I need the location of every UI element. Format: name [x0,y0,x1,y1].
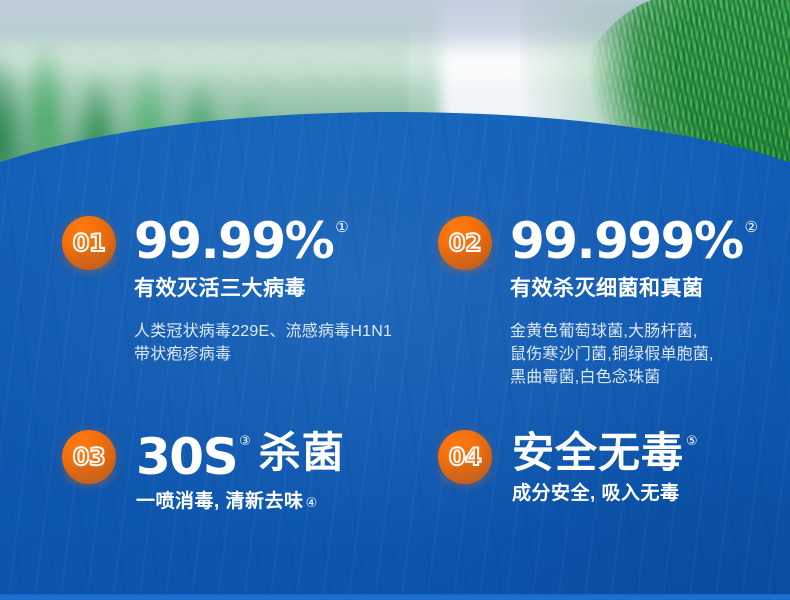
feature-text-02: 99.999% ② 有效杀灭细菌和真菌 金黄色葡萄球菌,大肠杆菌, 鼠伤寒沙门菌… [510,216,758,390]
badge-04: 04 [438,430,492,484]
footnote-marker: ④ [306,496,318,511]
headline-row-04: 安全无毒 ⑤ [512,432,698,474]
detail-line: 带状疱疹病毒 [134,343,392,366]
badge-number: 04 [449,445,481,469]
footnote-marker: ① [335,220,348,235]
subheadline: 成分安全, 吸入无毒 [512,478,698,505]
footnote-marker: ⑤ [686,435,698,448]
detail-line: 鼠伤寒沙门菌,铜绿假单胞菌, [510,343,758,366]
subheadline: 有效灭活三大病毒 [134,272,392,302]
footnote-marker: ③ [239,435,251,448]
headline-row-02: 99.999% ② [510,216,758,266]
headline-value: 安全无毒 [512,432,684,474]
headline-value: 99.999% [510,216,743,266]
subheadline: 一喷消毒, 清新去味 [136,491,304,512]
feature-text-01: 99.99% ① 有效灭活三大病毒 人类冠状病毒229E、流感病毒H1N1 带状… [134,216,392,366]
subheadline: 有效杀灭细菌和真菌 [510,272,758,302]
headline-value: 30S [136,432,237,482]
feature-text-04: 安全无毒 ⑤ 成分安全, 吸入无毒 [512,430,698,505]
headline-row-03: 30S ③ 杀菌 [136,432,345,482]
feature-item-02: 02 99.999% ② 有效杀灭细菌和真菌 金黄色葡萄球菌,大肠杆菌, 鼠伤寒… [438,216,758,390]
headline-value: 99.99% [134,216,333,266]
detail-line: 金黄色葡萄球菌,大肠杆菌, [510,320,758,343]
promo-poster: 01 99.99% ① 有效灭活三大病毒 人类冠状病毒229E、流感病毒H1N1… [0,0,790,600]
headline-row-01: 99.99% ① [134,216,392,266]
badge-01: 01 [62,216,116,270]
feature-item-04: 04 安全无毒 ⑤ 成分安全, 吸入无毒 [438,430,698,505]
detail-text-01: 人类冠状病毒229E、流感病毒H1N1 带状疱疹病毒 [134,320,392,366]
detail-line: 黑曲霉菌,白色念珠菌 [510,366,758,389]
feature-text-03: 30S ③ 杀菌 一喷消毒, 清新去味④ [136,430,345,513]
badge-number: 01 [73,231,105,255]
headline-tail: 杀菌 [259,432,345,474]
feature-item-01: 01 99.99% ① 有效灭活三大病毒 人类冠状病毒229E、流感病毒H1N1… [62,216,392,366]
detail-text-02: 金黄色葡萄球菌,大肠杆菌, 鼠伤寒沙门菌,铜绿假单胞菌, 黑曲霉菌,白色念珠菌 [510,320,758,390]
detail-line: 人类冠状病毒229E、流感病毒H1N1 [134,320,392,343]
badge-number: 03 [73,445,105,469]
footnote-marker: ② [745,220,758,235]
feature-grid: 01 99.99% ① 有效灭活三大病毒 人类冠状病毒229E、流感病毒H1N1… [0,0,790,600]
subheadline-row-03: 一喷消毒, 清新去味④ [136,486,345,513]
feature-item-03: 03 30S ③ 杀菌 一喷消毒, 清新去味④ [62,430,345,513]
badge-number: 02 [449,231,481,255]
badge-03: 03 [62,430,116,484]
badge-02: 02 [438,216,492,270]
